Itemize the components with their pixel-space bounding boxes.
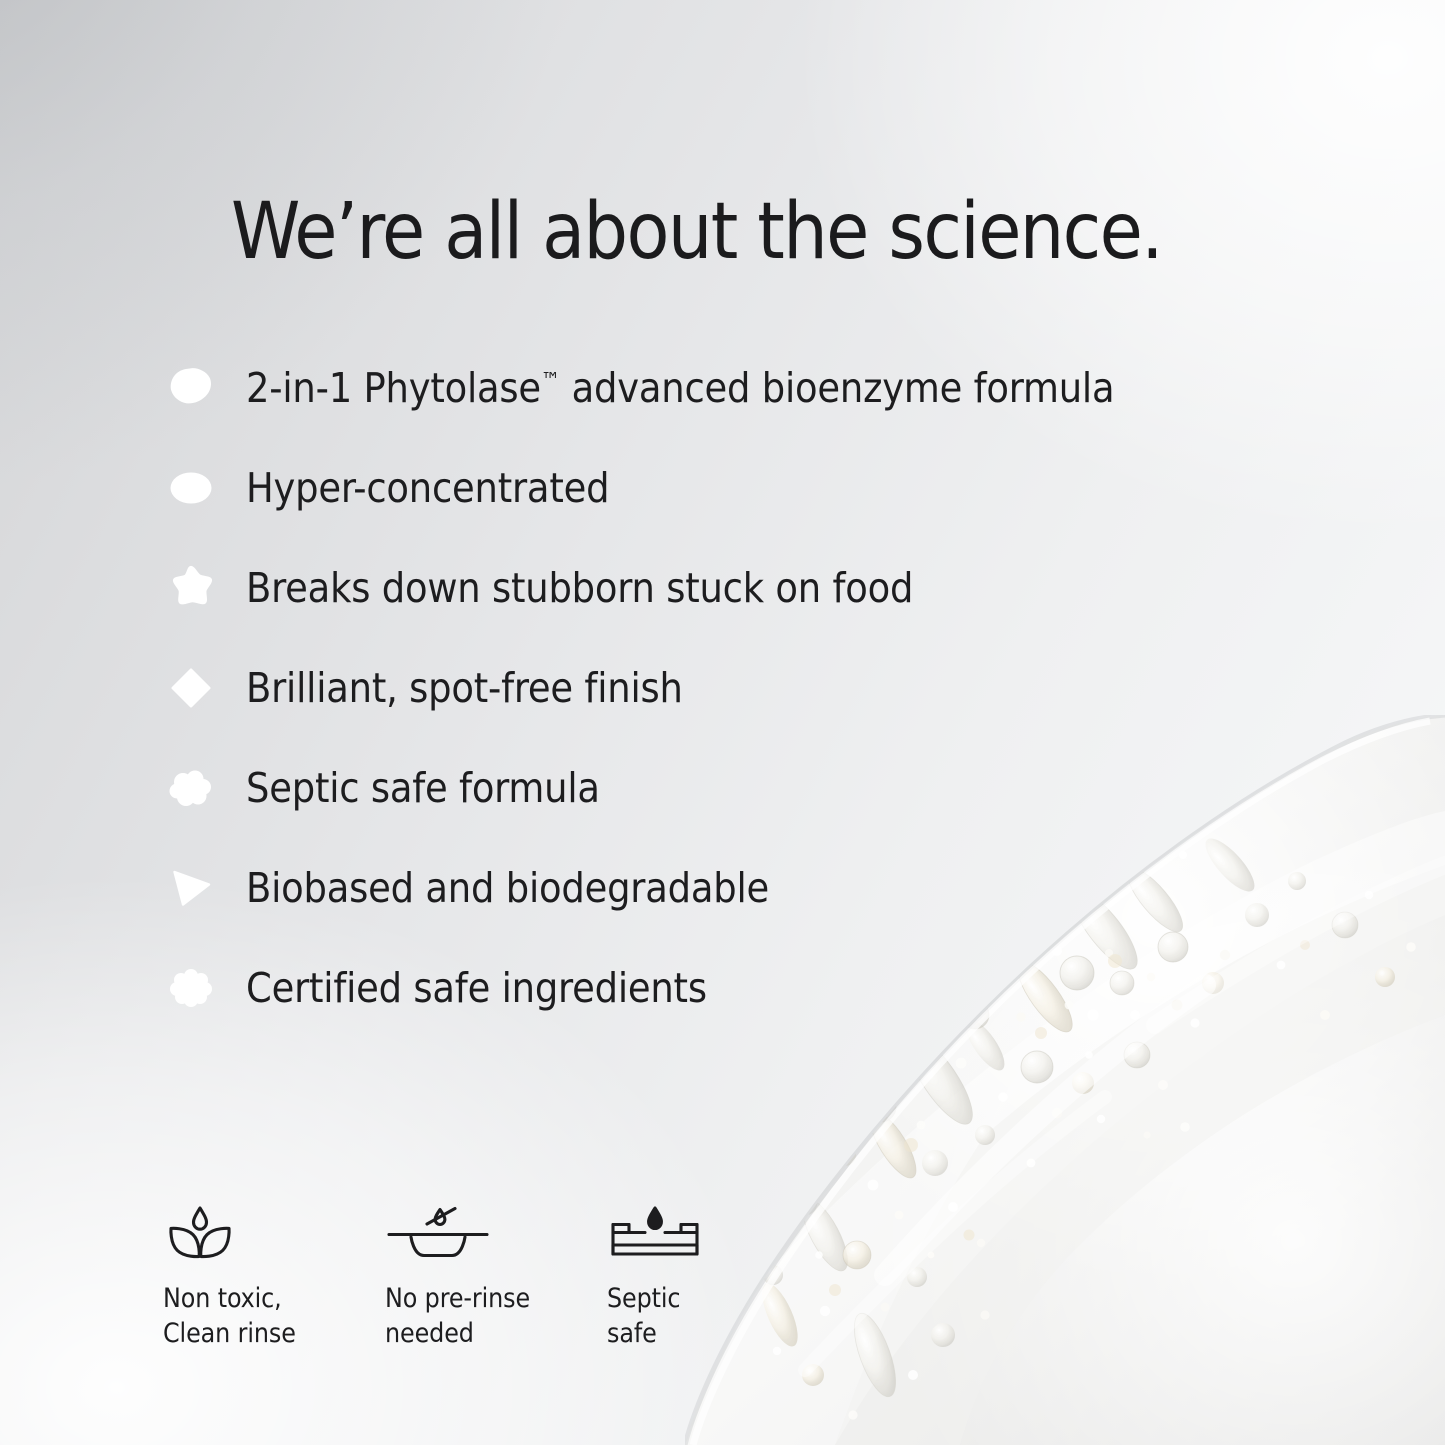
badge-row: Non toxic, Clean rinse No pre-rinse need… [163, 1196, 829, 1352]
feature-item-concentration: Hyper-concentrated [166, 438, 1296, 538]
feature-item-breaks-food: Breaks down stubborn stuck on food [166, 538, 1296, 638]
trademark-symbol: ™ [541, 368, 560, 393]
feature-label: Brilliant, spot-free finish [246, 664, 683, 712]
triangle-bullet-icon [166, 863, 216, 913]
feature-label: Septic safe formula [246, 764, 600, 812]
septic-tank-droplet-icon [607, 1196, 703, 1270]
feature-label-tail: advanced bioenzyme formula [560, 364, 1114, 412]
feature-item-spot-free: Brilliant, spot-free finish [166, 638, 1296, 738]
badge-no-pre-rinse: No pre-rinse needed [385, 1196, 607, 1352]
badge-septic-safe: Septic safe [607, 1196, 829, 1352]
feature-item-septic-safe: Septic safe formula [166, 738, 1296, 838]
badge-label: Septic safe [607, 1282, 680, 1352]
badge-label: No pre-rinse needed [385, 1282, 530, 1352]
scalloped-circle-bullet-icon [166, 963, 216, 1013]
feature-label: Biobased and biodegradable [246, 864, 769, 912]
diamond-bullet-icon [166, 663, 216, 713]
star-bullet-icon [166, 563, 216, 613]
feature-label: Certified safe ingredients [246, 964, 707, 1012]
feature-item-certified: Certified safe ingredients [166, 938, 1296, 1038]
leaf-droplet-icon [163, 1196, 237, 1270]
no-prerinse-bowl-icon [385, 1196, 491, 1270]
product-science-panel: We’re all about the science. 2-in-1 Phyt… [0, 0, 1445, 1445]
ellipse-bullet-icon [166, 463, 216, 513]
feature-label: 2-in-1 Phytolase [246, 364, 541, 412]
feature-label: Breaks down stubborn stuck on food [246, 564, 913, 612]
heptagon-blob-bullet-icon [166, 363, 216, 413]
cloud-blob-bullet-icon [166, 763, 216, 813]
feature-item-biodegradable: Biobased and biodegradable [166, 838, 1296, 938]
feature-item-formula: 2-in-1 Phytolase™ advanced bioenzyme for… [166, 338, 1296, 438]
badge-non-toxic: Non toxic, Clean rinse [163, 1196, 385, 1352]
feature-label: Hyper-concentrated [246, 464, 609, 512]
badge-label: Non toxic, Clean rinse [163, 1282, 296, 1352]
feature-list: 2-in-1 Phytolase™ advanced bioenzyme for… [166, 338, 1296, 1038]
page-title: We’re all about the science. [231, 192, 1331, 273]
